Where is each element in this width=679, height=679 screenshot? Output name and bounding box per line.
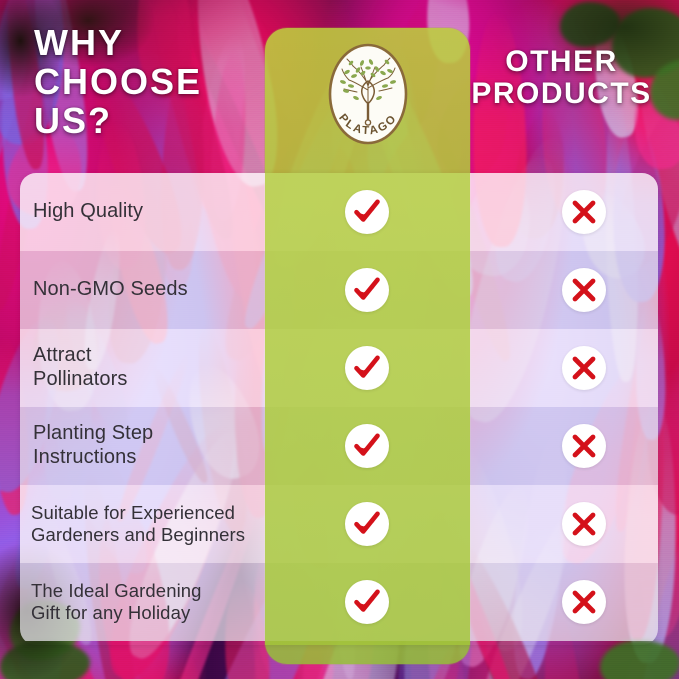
table-row: High Quality (20, 173, 658, 251)
column-header-other-products: OTHERPRODUCTS (459, 46, 664, 111)
page-title-why-choose-us: WHYCHOOSEUS? (34, 24, 244, 141)
feature-label: High Quality (33, 200, 255, 224)
platago-logo: PLATAGO (327, 42, 409, 146)
comparison-infographic: WHYCHOOSEUS? OTHERPRODUCTS (0, 0, 679, 679)
cross-icon (562, 502, 606, 546)
cross-icon (562, 580, 606, 624)
feature-label-line-1: High Quality (33, 200, 255, 224)
feature-label-line-1: Suitable for Experienced (31, 502, 267, 524)
other-products-line-1: OTHER (459, 46, 664, 78)
why-choose-us-line-2: CHOOSE (34, 63, 244, 102)
feature-label: Planting StepInstructions (33, 422, 255, 469)
why-choose-us-line-3: US? (34, 102, 244, 141)
table-row: AttractPollinators (20, 329, 658, 407)
why-choose-us-line-1: WHY (34, 24, 244, 63)
table-row: The Ideal GardeningGift for any Holiday (20, 563, 658, 641)
feature-label: Suitable for ExperiencedGardeners and Be… (31, 502, 267, 546)
cross-icon (562, 346, 606, 390)
table-row: Non-GMO Seeds (20, 251, 658, 329)
cross-icon (562, 190, 606, 234)
feature-label-line-1: Planting Step (33, 422, 255, 446)
feature-label-line-2: Pollinators (33, 368, 255, 392)
cross-icon (562, 424, 606, 468)
feature-label: Non-GMO Seeds (33, 278, 255, 302)
feature-label-line-1: The Ideal Gardening (31, 580, 267, 602)
feature-label-line-2: Gift for any Holiday (31, 602, 267, 624)
feature-label: The Ideal GardeningGift for any Holiday (31, 580, 267, 624)
comparison-table: High QualityNon-GMO SeedsAttractPollinat… (20, 173, 658, 645)
feature-label-line-2: Instructions (33, 446, 255, 470)
feature-label-line-2: Gardeners and Beginners (31, 524, 267, 546)
table-row: Suitable for ExperiencedGardeners and Be… (20, 485, 658, 563)
feature-label-line-1: Attract (33, 344, 255, 368)
feature-label: AttractPollinators (33, 344, 255, 391)
feature-label-line-1: Non-GMO Seeds (33, 278, 255, 302)
cross-icon (562, 268, 606, 312)
other-products-line-2: PRODUCTS (459, 78, 664, 110)
table-row: Planting StepInstructions (20, 407, 658, 485)
